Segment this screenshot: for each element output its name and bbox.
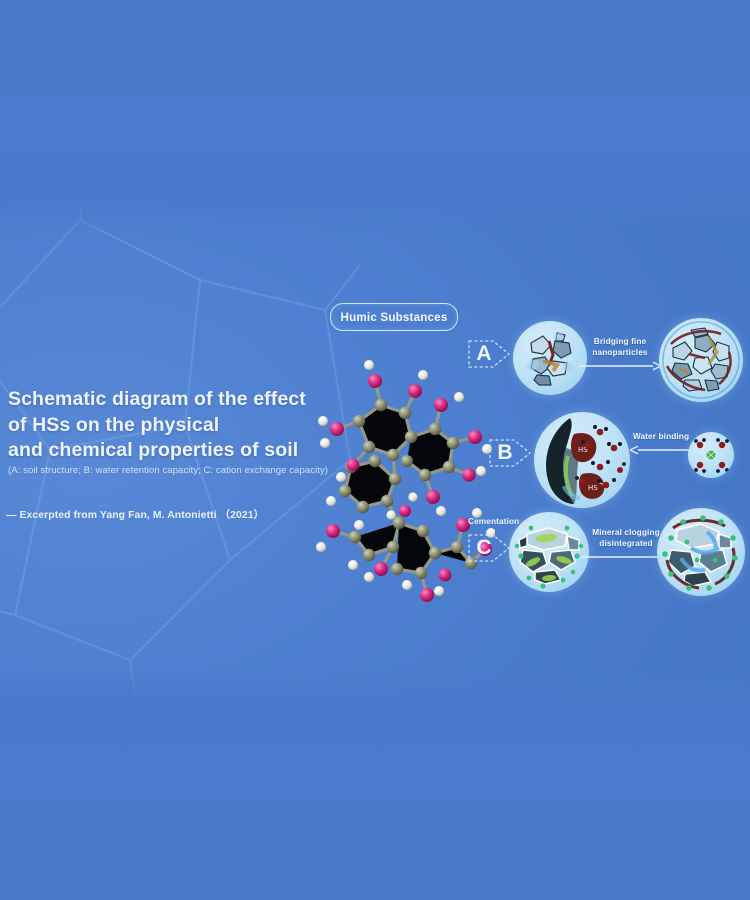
marker-letter-b: B xyxy=(488,432,522,474)
figure-canvas: Schematic diagram of the effect of HSs o… xyxy=(0,0,750,900)
process-label-b: Water binding xyxy=(630,431,692,442)
cementation-label: Cementation xyxy=(468,516,519,526)
humic-substances-text: Humic Substances xyxy=(341,311,448,324)
circle-b-right xyxy=(688,432,734,478)
background-band-top xyxy=(0,0,750,200)
title-line-1: Schematic diagram of the effect xyxy=(8,387,338,413)
background-band-bottom xyxy=(0,700,750,900)
process-label-c-line1: Mineral clogging xyxy=(580,527,672,538)
page-title: Schematic diagram of the effect of HSs o… xyxy=(8,387,338,464)
process-label-b-line1: Water binding xyxy=(630,431,692,442)
circle-a-right xyxy=(659,318,743,402)
circle-c-right xyxy=(657,508,745,596)
title-line-2: of HSs on the physical xyxy=(8,413,338,439)
process-arrow-a xyxy=(577,360,663,372)
process-label-a-line2: nanoparticles xyxy=(577,347,663,358)
process-arrow-b xyxy=(630,444,692,456)
humic-molecule-diagram xyxy=(295,325,495,605)
marker-arrow-a: A xyxy=(467,333,511,375)
circle-b-left: HS HS xyxy=(534,412,630,508)
title-line-3: and chemical properties of soil xyxy=(8,438,338,464)
circle-c-left xyxy=(509,512,589,592)
panel-fade-bottom xyxy=(0,666,750,700)
circle-a-left xyxy=(513,321,587,395)
marker-arrow-b: B xyxy=(488,432,532,474)
marker-letter-c: C xyxy=(467,527,501,569)
process-label-a: Bridging fine nanoparticles xyxy=(577,336,663,357)
marker-letter-a: A xyxy=(467,333,501,375)
process-label-a-line1: Bridging fine xyxy=(577,336,663,347)
panel-fade-top xyxy=(0,200,750,234)
hs-tag-2: HS xyxy=(588,484,598,492)
marker-arrow-c: C xyxy=(467,527,511,569)
